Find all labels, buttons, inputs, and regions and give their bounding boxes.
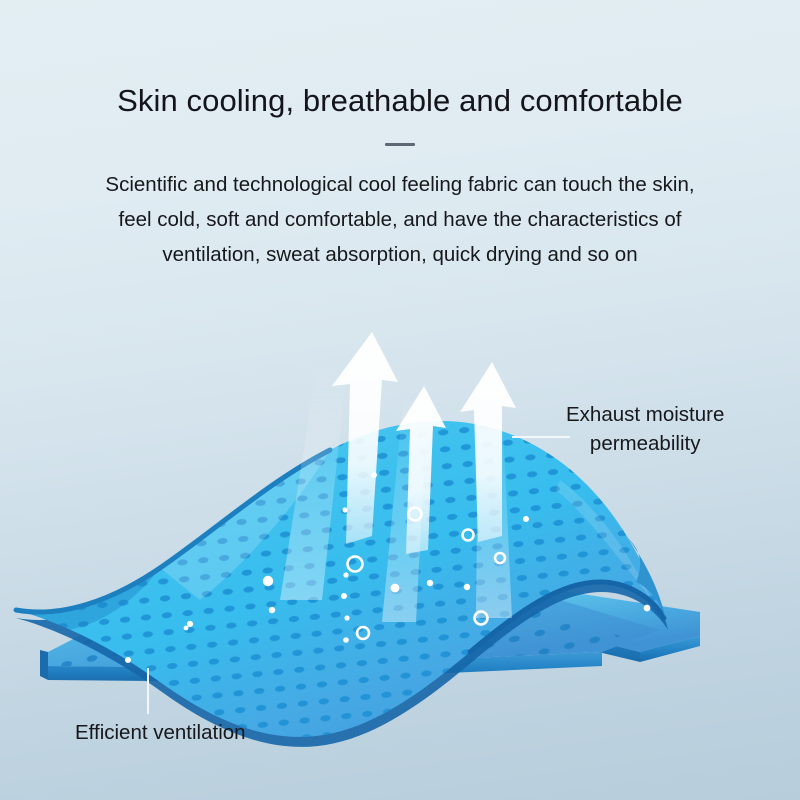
title-divider bbox=[385, 143, 415, 146]
callout-exhaust-moisture-permeability: Exhaust moisture permeability bbox=[566, 400, 724, 458]
page-title: Skin cooling, breathable and comfortable bbox=[0, 0, 800, 119]
callout-exhaust-line-1: Exhaust moisture bbox=[566, 400, 724, 429]
callout-efficient-ventilation: Efficient ventilation bbox=[75, 718, 246, 747]
subtitle-line-1: Scientific and technological cool feelin… bbox=[50, 167, 750, 202]
infographic-canvas: Skin cooling, breathable and comfortable… bbox=[0, 0, 800, 800]
leader-line-ventilation bbox=[147, 668, 149, 714]
callout-exhaust-line-2: permeability bbox=[566, 429, 724, 458]
leader-line-exhaust bbox=[512, 436, 570, 438]
subtitle-paragraph: Scientific and technological cool feelin… bbox=[50, 167, 750, 273]
header-block: Skin cooling, breathable and comfortable… bbox=[0, 0, 800, 272]
subtitle-line-2: feel cold, soft and comfortable, and hav… bbox=[50, 202, 750, 237]
subtitle-line-3: ventilation, sweat absorption, quick dry… bbox=[50, 237, 750, 272]
airflow-arrows bbox=[332, 332, 516, 554]
